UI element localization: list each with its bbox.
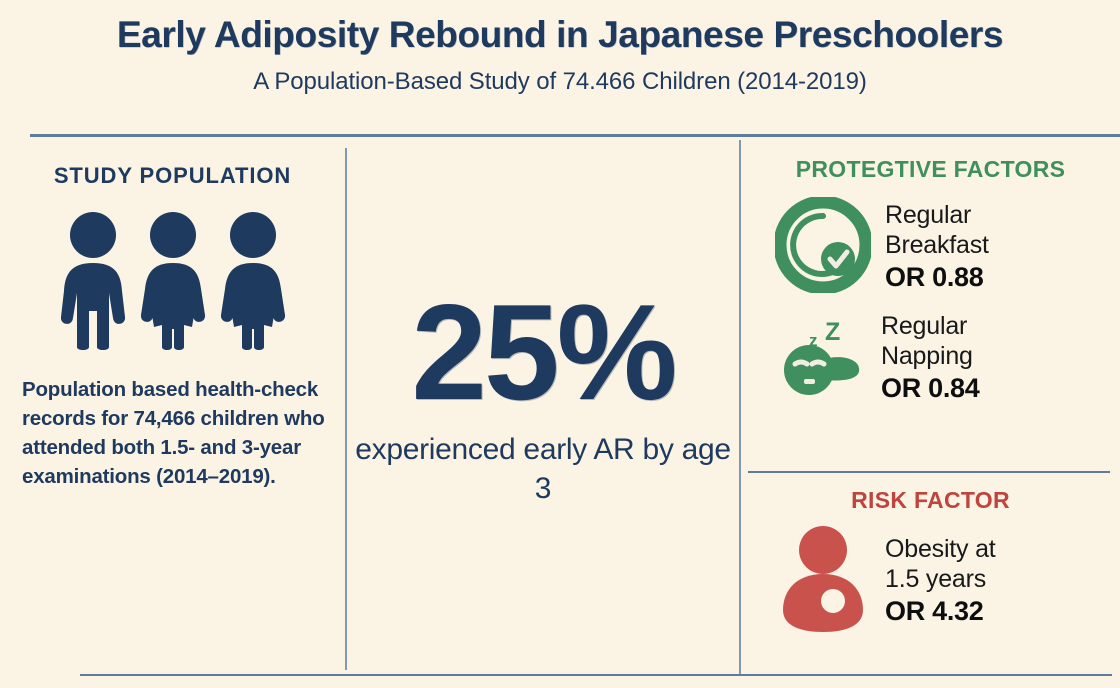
factor-item-obesity: Obesity at 1.5 years OR 4.32 xyxy=(741,524,1120,639)
divider-top xyxy=(30,134,1120,137)
factor-item-napping: Z z Regular Napping OR 0.84 xyxy=(741,312,1120,405)
svg-text:Z: Z xyxy=(825,318,840,346)
person-female-icon xyxy=(136,211,210,351)
factor-line1: Obesity at xyxy=(885,535,996,563)
napping-sleep-icon: Z z xyxy=(781,316,867,401)
poster-header: Early Adiposity Rebound in Japanese Pres… xyxy=(0,14,1120,96)
person-male-icon xyxy=(56,211,130,351)
study-population-body: Population based health-check records fo… xyxy=(22,375,335,491)
page-subtitle: A Population-Based Study of 74.466 Child… xyxy=(0,68,1120,96)
study-population-panel: STUDY POPULATION Population based health… xyxy=(0,150,345,675)
factor-label-obesity: Obesity at 1.5 years OR 4.32 xyxy=(885,535,996,628)
headline-stat-panel: 25% experienced early AR by age 3 xyxy=(347,150,739,675)
factor-or-obesity: OR 4.32 xyxy=(885,596,996,628)
factor-or-breakfast: OR 0.88 xyxy=(885,262,989,294)
headline-stat-caption: experienced early AR by age 3 xyxy=(347,431,739,508)
breakfast-check-circle-icon xyxy=(775,197,871,298)
factor-label-napping: Regular Napping OR 0.84 xyxy=(881,312,979,405)
factor-line2: 1.5 years xyxy=(885,565,986,593)
risk-factor-heading: RISK FACTOR xyxy=(741,471,1120,514)
factor-line2: Napping xyxy=(881,342,973,370)
factor-line1: Regular xyxy=(885,201,971,229)
infographic-poster: Early Adiposity Rebound in Japanese Pres… xyxy=(0,0,1120,688)
person-female-icon xyxy=(216,211,290,351)
protective-factors-section: PROTEGTIVE FACTORS Regular Breakfast OR … xyxy=(741,140,1120,471)
population-figure-group xyxy=(0,211,345,351)
study-population-heading: STUDY POPULATION xyxy=(0,163,345,189)
factor-label-breakfast: Regular Breakfast OR 0.88 xyxy=(885,201,989,294)
factor-item-breakfast: Regular Breakfast OR 0.88 xyxy=(741,197,1120,298)
risk-factor-section: RISK FACTOR Obesity at 1.5 years OR 4.32 xyxy=(741,471,1120,671)
factor-line1: Regular xyxy=(881,312,967,340)
protective-factors-heading: PROTEGTIVE FACTORS xyxy=(741,140,1120,183)
obese-person-icon xyxy=(775,524,871,639)
page-title: Early Adiposity Rebound in Japanese Pres… xyxy=(0,14,1120,55)
factors-panel: PROTEGTIVE FACTORS Regular Breakfast OR … xyxy=(741,140,1120,675)
headline-stat-value: 25% xyxy=(411,287,674,418)
factor-or-napping: OR 0.84 xyxy=(881,373,979,405)
factor-line2: Breakfast xyxy=(885,231,989,259)
